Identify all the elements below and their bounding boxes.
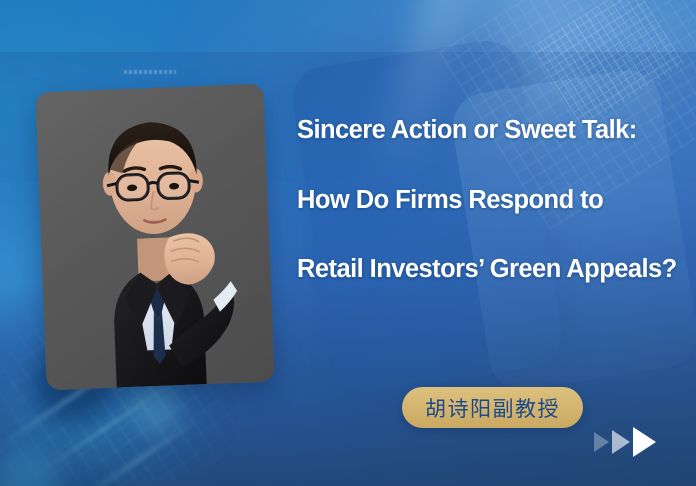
speaker-name-text: 胡诗阳副教授 [425,393,560,423]
portrait-illustration [35,84,274,391]
seminar-poster: Sincere Action or Sweet Talk: How Do Fir… [0,0,696,486]
forward-arrows-icon [594,427,658,457]
presentation-title: Sincere Action or Sweet Talk: How Do Fir… [297,118,689,283]
title-line-3: Retail Investors’ Green Appeals? [297,257,689,283]
title-line-1: Sincere Action or Sweet Talk: [297,118,689,144]
arrow-icon-1 [594,432,609,452]
arrow-icon-3 [633,427,656,457]
arrow-icon-2 [612,430,630,454]
title-line-2: How Do Firms Respond to [297,188,689,214]
speaker-name-badge: 胡诗阳副教授 [402,387,583,428]
speaker-portrait [35,84,274,391]
